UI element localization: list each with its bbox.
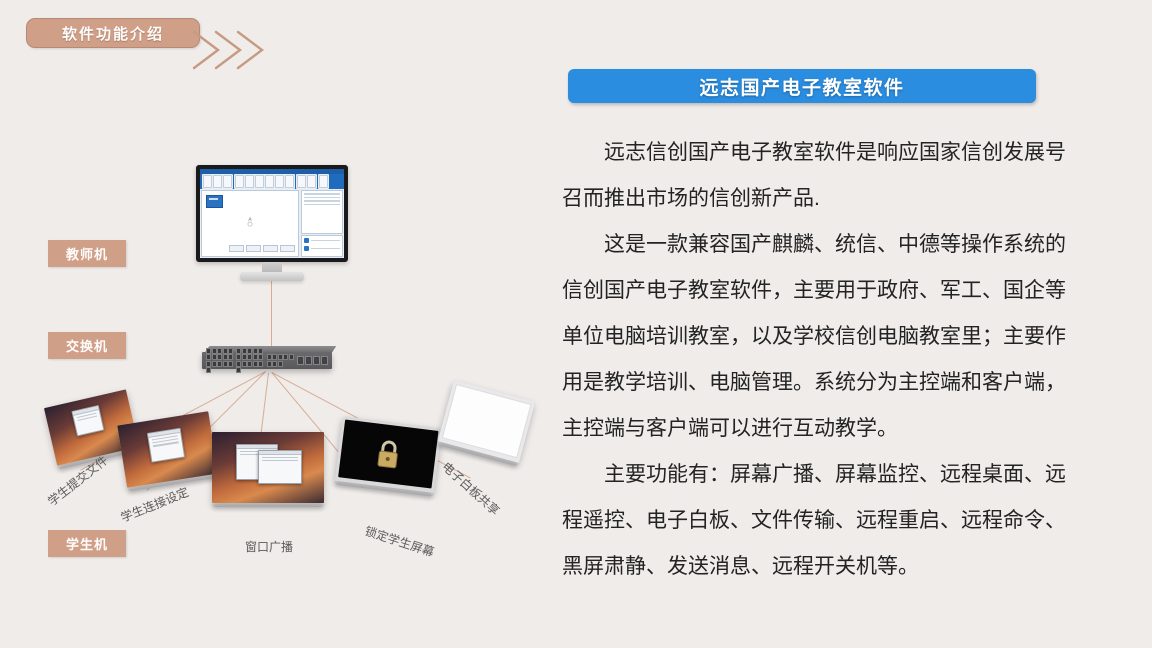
laptop-lid — [335, 416, 442, 493]
app-button[interactable] — [246, 245, 261, 252]
network-switch — [202, 346, 334, 373]
app-sidebar — [301, 190, 343, 257]
laptop-lock-student-screen — [334, 416, 442, 497]
toolbar-group — [318, 174, 329, 189]
toolbar-button[interactable] — [255, 175, 264, 188]
toolbar-group — [234, 174, 295, 189]
chip-switch: 交换机 — [48, 332, 126, 359]
title-banner: 远志国产电子教室软件 — [568, 69, 1036, 103]
toolbar-button[interactable] — [275, 175, 284, 188]
toolbar-group — [296, 174, 317, 189]
chip-label: 学生机 — [66, 537, 108, 552]
app-sidebar-list[interactable] — [301, 190, 343, 234]
network-topology-diagram: 教师机 交换机 学生机 学生提交文件 — [0, 60, 548, 620]
right-content-panel: 远志国产电子教室软件 远志信创国产电子教室软件是响应国家信创发展号召而推出市场的… — [560, 0, 1080, 648]
status-row — [304, 238, 340, 243]
app-sidebar-status — [301, 235, 343, 257]
laptop-caption-whiteboard-share: 电子白板共享 — [439, 458, 504, 519]
body-text: 远志信创国产电子教室软件是响应国家信创发展号召而推出市场的信创新产品. 这是一款… — [562, 130, 1074, 590]
toolbar-button[interactable] — [319, 175, 328, 188]
laptop-student-connection-setting — [117, 411, 218, 492]
toolbar-button[interactable] — [223, 175, 232, 188]
laptop-lid — [438, 380, 535, 463]
padlock-icon — [374, 438, 403, 471]
toolbar-button[interactable] — [265, 175, 274, 188]
laptop-screen — [338, 420, 438, 489]
toolbar-button[interactable] — [285, 175, 294, 188]
status-dot-icon — [304, 238, 309, 243]
app-main-area — [201, 190, 299, 257]
list-line — [304, 193, 340, 195]
dialog-window-front[interactable] — [258, 450, 302, 484]
list-line — [304, 204, 340, 206]
teacher-monitor — [196, 165, 348, 262]
laptop-whiteboard-share — [437, 380, 535, 466]
app-button[interactable] — [229, 245, 244, 252]
app-button[interactable] — [263, 245, 278, 252]
header-badge-label: 软件功能介绍 — [62, 23, 164, 44]
app-button[interactable] — [280, 245, 295, 252]
switch-port-bank — [206, 348, 233, 374]
switch-port-bank — [236, 348, 263, 374]
dialog-window[interactable] — [71, 405, 104, 437]
link-monitor-switch — [271, 281, 272, 347]
toolbar-group — [202, 174, 233, 189]
laptop-caption-lock-student-screen: 锁定学生屏幕 — [363, 522, 437, 560]
switch-uplink-ports — [297, 356, 328, 365]
switch-front-panel — [202, 352, 332, 369]
chip-student-machine: 学生机 — [48, 530, 126, 557]
status-dot-icon — [304, 246, 309, 251]
app-button-row — [229, 245, 295, 252]
switch-port-bank — [267, 354, 294, 367]
monitor-bezel — [196, 165, 348, 262]
monitor-base — [240, 272, 304, 281]
toolbar-button[interactable] — [297, 175, 306, 188]
laptop-lid — [212, 432, 324, 503]
toolbar-button[interactable] — [235, 175, 244, 188]
toolbar-button[interactable] — [213, 175, 222, 188]
laptop-window-broadcast — [212, 432, 324, 507]
list-line — [304, 200, 340, 202]
client-thumbnail[interactable] — [206, 195, 223, 208]
app-watermark-logo — [243, 215, 257, 229]
monitor-screen — [200, 169, 344, 258]
app-body — [200, 189, 344, 258]
chip-label: 交换机 — [66, 339, 108, 354]
list-line — [304, 197, 340, 199]
chip-label: 教师机 — [66, 247, 108, 262]
app-toolbar — [200, 174, 344, 189]
laptop-caption-window-broadcast: 窗口广播 — [245, 538, 293, 555]
status-row — [304, 246, 340, 251]
paragraph-3: 主要功能有：屏幕广播、屏幕监控、远程桌面、远程遥控、电子白板、文件传输、远程重启… — [562, 452, 1074, 590]
title-banner-label: 远志国产电子教室软件 — [699, 73, 904, 100]
laptop-screen — [212, 432, 324, 503]
toolbar-button[interactable] — [245, 175, 254, 188]
toolbar-button[interactable] — [203, 175, 212, 188]
laptop-base — [212, 503, 324, 507]
header-badge: 软件功能介绍 — [26, 18, 200, 48]
paragraph-2: 这是一款兼容国产麒麟、统信、中德等操作系统的信创国产电子教室软件，主要用于政府、… — [562, 222, 1074, 452]
chip-teacher-machine: 教师机 — [48, 240, 126, 267]
paragraph-1: 远志信创国产电子教室软件是响应国家信创发展号召而推出市场的信创新产品. — [562, 130, 1074, 222]
dialog-window[interactable] — [147, 428, 185, 463]
toolbar-button[interactable] — [307, 175, 316, 188]
